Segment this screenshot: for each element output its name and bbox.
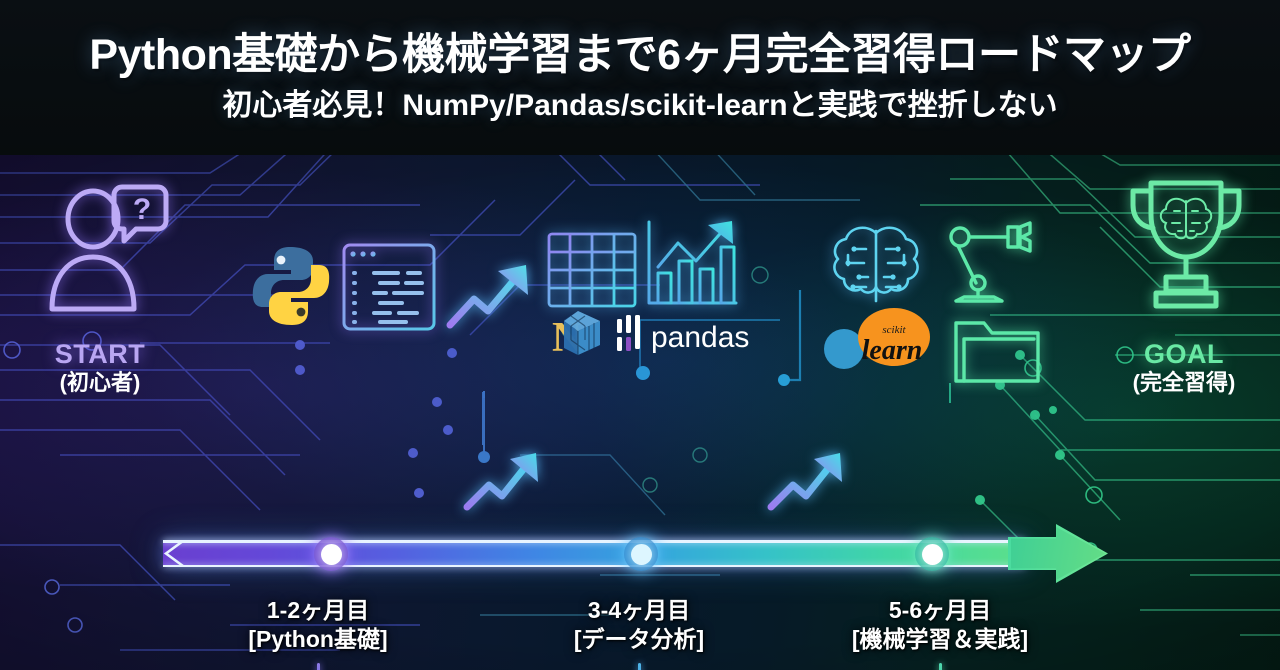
milestone-3-period: 5-6ヶ月目 (795, 596, 1085, 625)
milestone-3[interactable]: 5-6ヶ月目 [機械学習＆実践] [機械学習＆実践] scikit-learn・… (795, 596, 1085, 670)
milestone-1-period: 1-2ヶ月目 (198, 596, 438, 625)
milestone-2-stem (638, 663, 641, 670)
scikit-learn-logo-icon: scikit learn (822, 307, 954, 373)
folder-icon (952, 313, 1042, 387)
milestone-1-topic: [Python基礎] (198, 625, 438, 654)
sklearn-main-word: learn (862, 335, 923, 366)
code-editor-icon (340, 241, 438, 333)
timeline-tail-chevron-icon (163, 540, 185, 567)
brain-circuit-icon (826, 221, 926, 309)
page-subtitle: 初心者必見！NumPy/Pandas/scikit-learnと実践で挫折しない (222, 91, 1057, 121)
timeline-drop-connectors (0, 155, 1280, 670)
goal-endcap: GOAL (完全習得) (1100, 340, 1268, 396)
svg-text:?: ? (133, 193, 151, 226)
trend-arrow-icon-3 (766, 445, 850, 515)
milestone-2[interactable]: 3-4ヶ月目 [データ分析] [データ分析] NumPy・Pandas (519, 596, 759, 670)
robot-arm-icon (936, 221, 1040, 307)
milestone-2-period: 3-4ヶ月目 (519, 596, 759, 625)
python-logo-icon (248, 243, 334, 329)
milestone-node-2[interactable] (624, 537, 658, 571)
trend-arrow-icon-2 (462, 445, 546, 515)
goal-sublabel: (完全習得) (1100, 370, 1268, 395)
roadmap-stage: ? START (初心者) GOAL (完全 (0, 155, 1280, 670)
milestone-3-stem (939, 663, 942, 670)
pandas-wordmark: pandas (651, 321, 749, 354)
trophy-brain-icon (1124, 175, 1248, 315)
pandas-logo-icon: pandas (615, 313, 739, 357)
milestone-3-topic: [機械学習＆実践] (795, 625, 1085, 654)
milestone-2-topic: [データ分析] (519, 625, 759, 654)
goal-label: GOAL (1100, 340, 1268, 368)
milestone-1[interactable]: 1-2ヶ月目 [Python基礎] [Python基礎] 文法・データ構造 (198, 596, 438, 670)
beginner-person-question-icon: ? (46, 177, 178, 317)
start-endcap: START (初心者) (12, 340, 188, 396)
page-title: Python基礎から機械学習まで6ヶ月完全習得ロードマップ (89, 34, 1190, 77)
timeline-progress-bar (163, 541, 1025, 566)
data-table-icon (546, 231, 638, 309)
roadmap-infographic: Python基礎から機械学習まで6ヶ月完全習得ロードマップ 初心者必見！NumP… (0, 0, 1280, 670)
milestone-node-1[interactable] (314, 537, 348, 571)
bar-chart-trend-icon (644, 217, 740, 311)
start-label: START (12, 340, 188, 368)
header-banner: Python基礎から機械学習まで6ヶ月完全習得ロードマップ 初心者必見！NumP… (0, 0, 1280, 155)
milestone-1-stem (317, 663, 320, 670)
start-sublabel: (初心者) (12, 370, 188, 395)
trend-arrow-icon (444, 255, 538, 333)
numpy-logo-icon: N (550, 307, 604, 361)
milestone-node-3[interactable] (915, 537, 949, 571)
